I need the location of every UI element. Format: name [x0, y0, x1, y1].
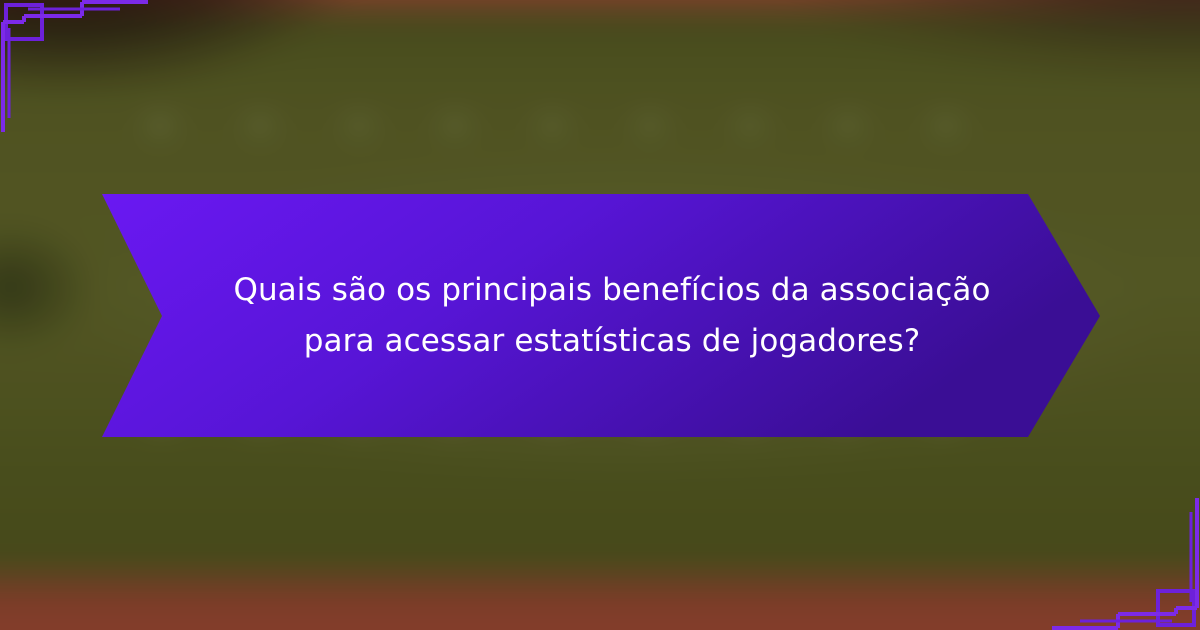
question-text: Quais são os principais benefícios da as…	[217, 194, 1007, 437]
share-card: Quais são os principais benefícios da as…	[0, 0, 1200, 630]
question-line-2: para acessar estatísticas de jogadores?	[304, 319, 921, 363]
question-line-1: Quais são os principais benefícios da as…	[233, 268, 990, 312]
question-banner: Quais são os principais benefícios da as…	[102, 194, 1100, 437]
